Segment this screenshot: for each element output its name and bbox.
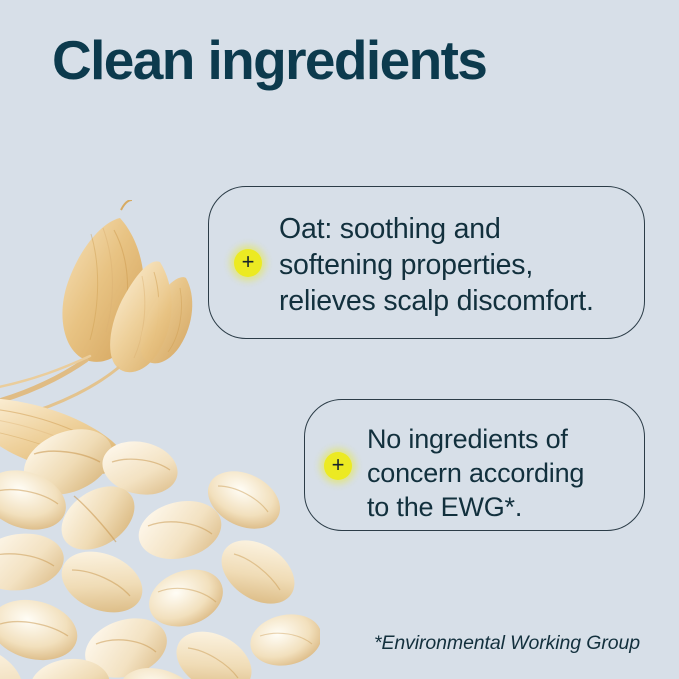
plus-icon: +	[324, 452, 352, 480]
card-text-line: No ingredients of	[367, 422, 642, 456]
footnote: *Environmental Working Group	[374, 632, 640, 655]
ingredient-card-oat: + Oat: soothing and softening properties…	[208, 186, 645, 339]
ingredient-card-ewg-text: No ingredients of concern according to t…	[367, 422, 642, 524]
card-text-line: concern according	[367, 456, 642, 490]
card-text-line: to the EWG*.	[367, 490, 642, 524]
card-text-line: Oat: soothing and	[279, 211, 649, 247]
ingredient-card-ewg: + No ingredients of concern according to…	[304, 399, 645, 531]
page-title: Clean ingredients	[52, 31, 486, 90]
ingredient-card-oat-text: Oat: soothing and softening properties, …	[279, 211, 649, 319]
plus-icon: +	[234, 249, 262, 277]
card-text-line: relieves scalp discomfort.	[279, 283, 649, 319]
plus-glyph: +	[242, 251, 255, 273]
plus-glyph: +	[332, 454, 345, 476]
card-text-line: softening properties,	[279, 247, 649, 283]
